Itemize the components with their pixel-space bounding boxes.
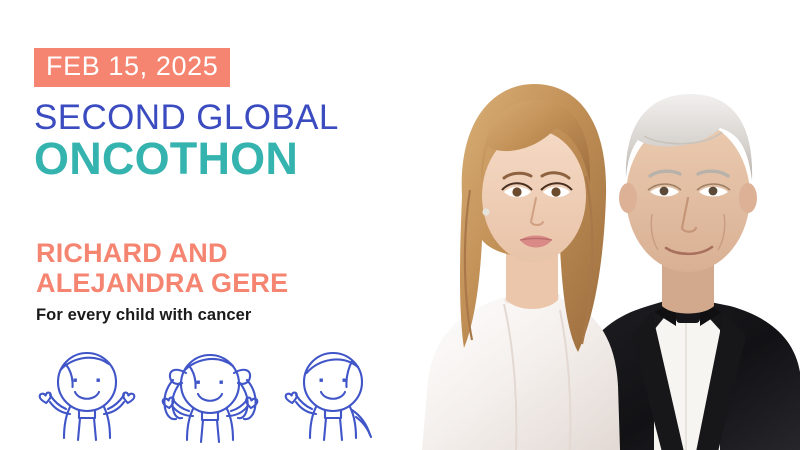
richard-and-alejandra-gere-photo	[400, 0, 800, 450]
three-children-line-art	[30, 340, 390, 450]
event-date-badge: FEB 15, 2025	[34, 48, 230, 87]
tagline: For every child with cancer	[36, 306, 251, 325]
headline-line-1: SECOND GLOBAL	[34, 100, 339, 135]
guest-names: RICHARD AND ALEJANDRA GERE	[36, 238, 288, 298]
oncothon-promo-banner: OncoDaily FEB 15,	[0, 0, 800, 450]
headline-line-2: ONCOTHON	[34, 136, 298, 181]
